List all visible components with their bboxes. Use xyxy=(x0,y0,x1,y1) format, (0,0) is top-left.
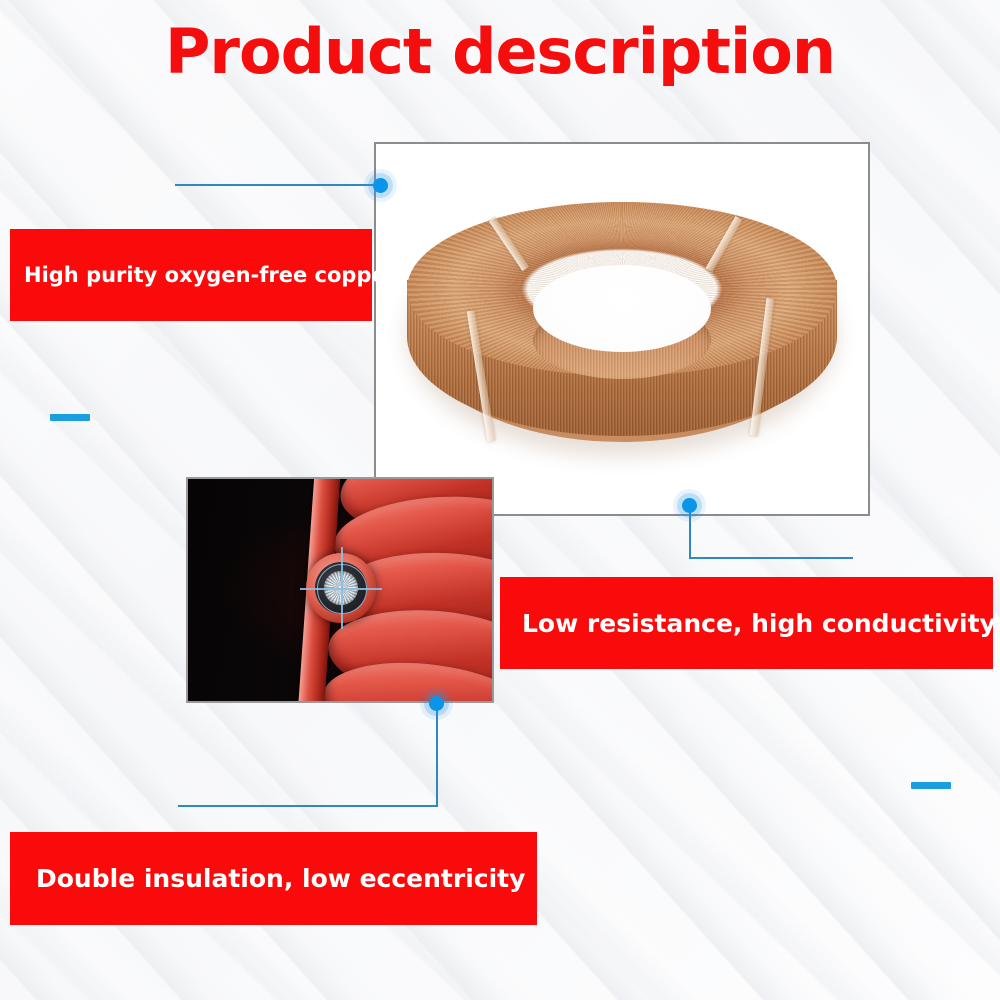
photo-copper-coil xyxy=(374,142,870,516)
copper-photo-canvas xyxy=(376,144,868,514)
feature-label-high-purity-copper: High purity oxygen-free copper xyxy=(10,229,372,321)
product-description-page: Product description xyxy=(0,0,1000,1000)
connector-dot-feature-3 xyxy=(429,696,444,711)
copper-coil-illustration xyxy=(388,178,856,478)
connector-line-feature-3-vertical xyxy=(436,703,438,807)
connector-line-feature-2-vertical xyxy=(689,505,691,559)
feature-label-text: Low resistance, high conductivity xyxy=(522,609,996,638)
connector-dot-feature-1 xyxy=(373,178,388,193)
accent-dash-right xyxy=(911,782,951,789)
connector-line-feature-3-horizontal xyxy=(178,805,438,807)
crosshair-ring-icon xyxy=(317,564,367,614)
connector-line-feature-1 xyxy=(175,184,375,186)
feature-label-text: High purity oxygen-free copper xyxy=(24,263,396,287)
feature-label-text: Double insulation, low eccentricity xyxy=(36,864,525,893)
connector-dot-feature-2 xyxy=(682,498,697,513)
cable-photo-canvas xyxy=(188,479,492,701)
cable-cross-section xyxy=(306,553,376,623)
photo-red-cable xyxy=(186,477,494,703)
feature-label-low-resistance: Low resistance, high conductivity xyxy=(500,577,993,669)
feature-label-double-insulation: Double insulation, low eccentricity xyxy=(10,832,537,925)
coil-center-hole xyxy=(533,265,711,352)
connector-line-feature-2-horizontal xyxy=(689,557,853,559)
page-title: Product description xyxy=(0,18,1000,86)
accent-dash-left xyxy=(50,414,90,421)
